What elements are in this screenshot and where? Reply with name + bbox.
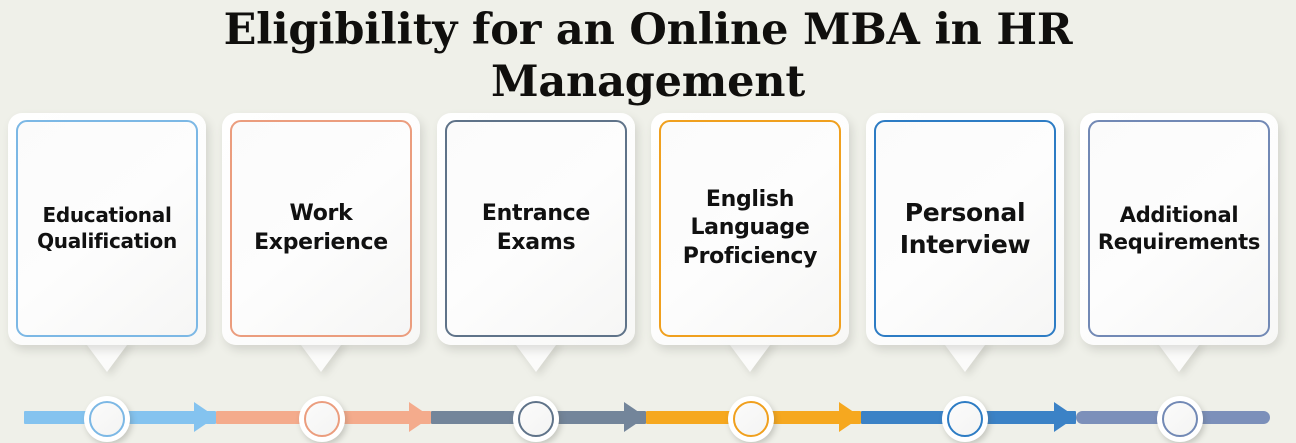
card-frame: Work Experience bbox=[222, 113, 420, 345]
card-frame: Personal Interview bbox=[866, 113, 1064, 345]
step-card[interactable]: Educational Qualification bbox=[8, 113, 206, 345]
step-card[interactable]: Additional Requirements bbox=[1080, 113, 1278, 345]
timeline-node[interactable] bbox=[299, 396, 345, 442]
node-ring-icon bbox=[947, 401, 983, 437]
card-tail-icon bbox=[942, 341, 988, 372]
card-label: Educational Qualification bbox=[33, 203, 181, 254]
card-inner-panel: Educational Qualification bbox=[16, 120, 198, 337]
card-frame: Educational Qualification bbox=[8, 113, 206, 345]
arrow-head-icon bbox=[839, 402, 861, 432]
card-frame: Entrance Exams bbox=[437, 113, 635, 345]
card-tail-icon bbox=[84, 341, 130, 372]
timeline-node[interactable] bbox=[942, 396, 988, 442]
node-ring-icon bbox=[1162, 401, 1198, 437]
step-card[interactable]: Personal Interview bbox=[866, 113, 1064, 345]
card-inner-panel: Additional Requirements bbox=[1088, 120, 1270, 337]
timeline-node[interactable] bbox=[728, 396, 774, 442]
arrow-head-icon bbox=[194, 402, 216, 432]
node-ring-icon bbox=[518, 401, 554, 437]
card-tail-icon bbox=[298, 341, 344, 372]
timeline-node[interactable] bbox=[84, 396, 130, 442]
card-label: Work Experience bbox=[250, 200, 392, 256]
step-card[interactable]: English Language Proficiency bbox=[651, 113, 849, 345]
timeline-arrow-row bbox=[0, 396, 1296, 443]
card-inner-panel: English Language Proficiency bbox=[659, 120, 841, 337]
card-inner-panel: Entrance Exams bbox=[445, 120, 627, 337]
steps-card-row: Educational Qualification Work Experienc… bbox=[0, 113, 1296, 398]
card-inner-panel: Personal Interview bbox=[874, 120, 1056, 337]
card-tail-icon bbox=[513, 341, 559, 372]
arrow-head-icon bbox=[409, 402, 431, 432]
timeline-node[interactable] bbox=[513, 396, 559, 442]
node-ring-icon bbox=[304, 401, 340, 437]
card-inner-panel: Work Experience bbox=[230, 120, 412, 337]
timeline-node[interactable] bbox=[1157, 396, 1203, 442]
card-tail-icon bbox=[1156, 341, 1202, 372]
card-label: Additional Requirements bbox=[1094, 202, 1264, 256]
card-label: English Language Proficiency bbox=[679, 186, 821, 270]
card-frame: Additional Requirements bbox=[1080, 113, 1278, 345]
arrow-head-icon bbox=[1054, 402, 1076, 432]
card-label: Entrance Exams bbox=[478, 200, 594, 256]
arrow-head-icon bbox=[624, 402, 646, 432]
node-ring-icon bbox=[733, 401, 769, 437]
step-card[interactable]: Entrance Exams bbox=[437, 113, 635, 345]
card-tail-icon bbox=[727, 341, 773, 372]
step-card[interactable]: Work Experience bbox=[222, 113, 420, 345]
node-ring-icon bbox=[89, 401, 125, 437]
card-frame: English Language Proficiency bbox=[651, 113, 849, 345]
card-label: Personal Interview bbox=[896, 197, 1035, 261]
page-title: Eligibility for an Online MBA in HR Mana… bbox=[0, 4, 1296, 108]
